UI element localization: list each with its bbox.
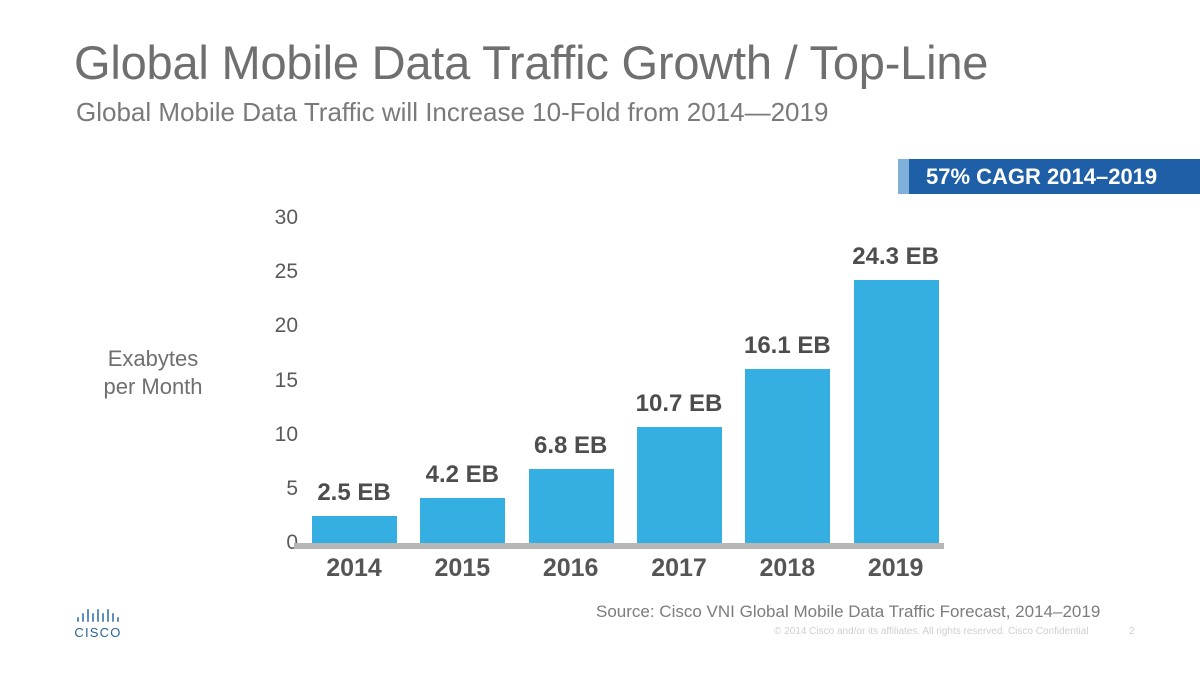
bar-2014[interactable] — [312, 516, 397, 543]
bar-group: 10.7 EB — [625, 218, 733, 543]
slide-canvas: Global Mobile Data Traffic Growth / Top-… — [0, 0, 1200, 675]
x-axis-ticks: 201420152016201720182019 — [300, 554, 950, 588]
plot-area: 2.5 EB4.2 EB6.8 EB10.7 EB16.1 EB24.3 EB — [300, 218, 950, 543]
x-tick-label-2015: 2015 — [408, 554, 516, 583]
x-tick-label-2014: 2014 — [300, 554, 408, 583]
bar-chart: Exabytes per Month 302520151050 2.5 EB4.… — [0, 0, 1200, 675]
bar-value-label: 10.7 EB — [625, 390, 733, 418]
x-axis-baseline — [294, 543, 944, 549]
bar-group: 2.5 EB — [300, 218, 408, 543]
x-tick-label-2019: 2019 — [842, 554, 950, 583]
cisco-bridge-icon — [62, 608, 134, 622]
y-tick-label: 20 — [248, 314, 298, 338]
cisco-wordmark: CISCO — [62, 625, 134, 640]
bar-2018[interactable] — [745, 369, 830, 543]
y-axis-title: Exabytes per Month — [68, 345, 238, 401]
x-tick-label-2016: 2016 — [517, 554, 625, 583]
x-tick-label-2018: 2018 — [733, 554, 841, 583]
y-axis-title-line-1: Exabytes — [68, 345, 238, 373]
bar-group: 6.8 EB — [517, 218, 625, 543]
y-tick-label: 15 — [248, 369, 298, 393]
y-tick-label: 5 — [248, 477, 298, 501]
bar-group: 16.1 EB — [733, 218, 841, 543]
copyright-note: © 2014 Cisco and/or its affiliates. All … — [774, 626, 1089, 637]
bar-group: 24.3 EB — [842, 218, 950, 543]
bar-value-label: 6.8 EB — [517, 432, 625, 460]
source-note: Source: Cisco VNI Global Mobile Data Tra… — [596, 602, 1100, 622]
x-tick-label-2017: 2017 — [625, 554, 733, 583]
bar-value-label: 16.1 EB — [733, 332, 841, 360]
bar-2016[interactable] — [529, 469, 614, 543]
bar-2015[interactable] — [420, 498, 505, 544]
bar-value-label: 4.2 EB — [408, 461, 516, 489]
bar-value-label: 2.5 EB — [300, 479, 408, 507]
cisco-logo: CISCO — [62, 608, 134, 644]
bar-2017[interactable] — [637, 427, 722, 543]
y-tick-label: 25 — [248, 260, 298, 284]
bar-value-label: 24.3 EB — [842, 243, 950, 271]
y-axis-title-line-2: per Month — [68, 373, 238, 401]
bar-2019[interactable] — [854, 280, 939, 543]
page-number: 2 — [1129, 626, 1135, 637]
bar-group: 4.2 EB — [408, 218, 516, 543]
y-axis-ticks: 302520151050 — [248, 0, 298, 675]
y-tick-label: 30 — [248, 206, 298, 230]
y-tick-label: 0 — [248, 531, 298, 555]
y-tick-label: 10 — [248, 423, 298, 447]
